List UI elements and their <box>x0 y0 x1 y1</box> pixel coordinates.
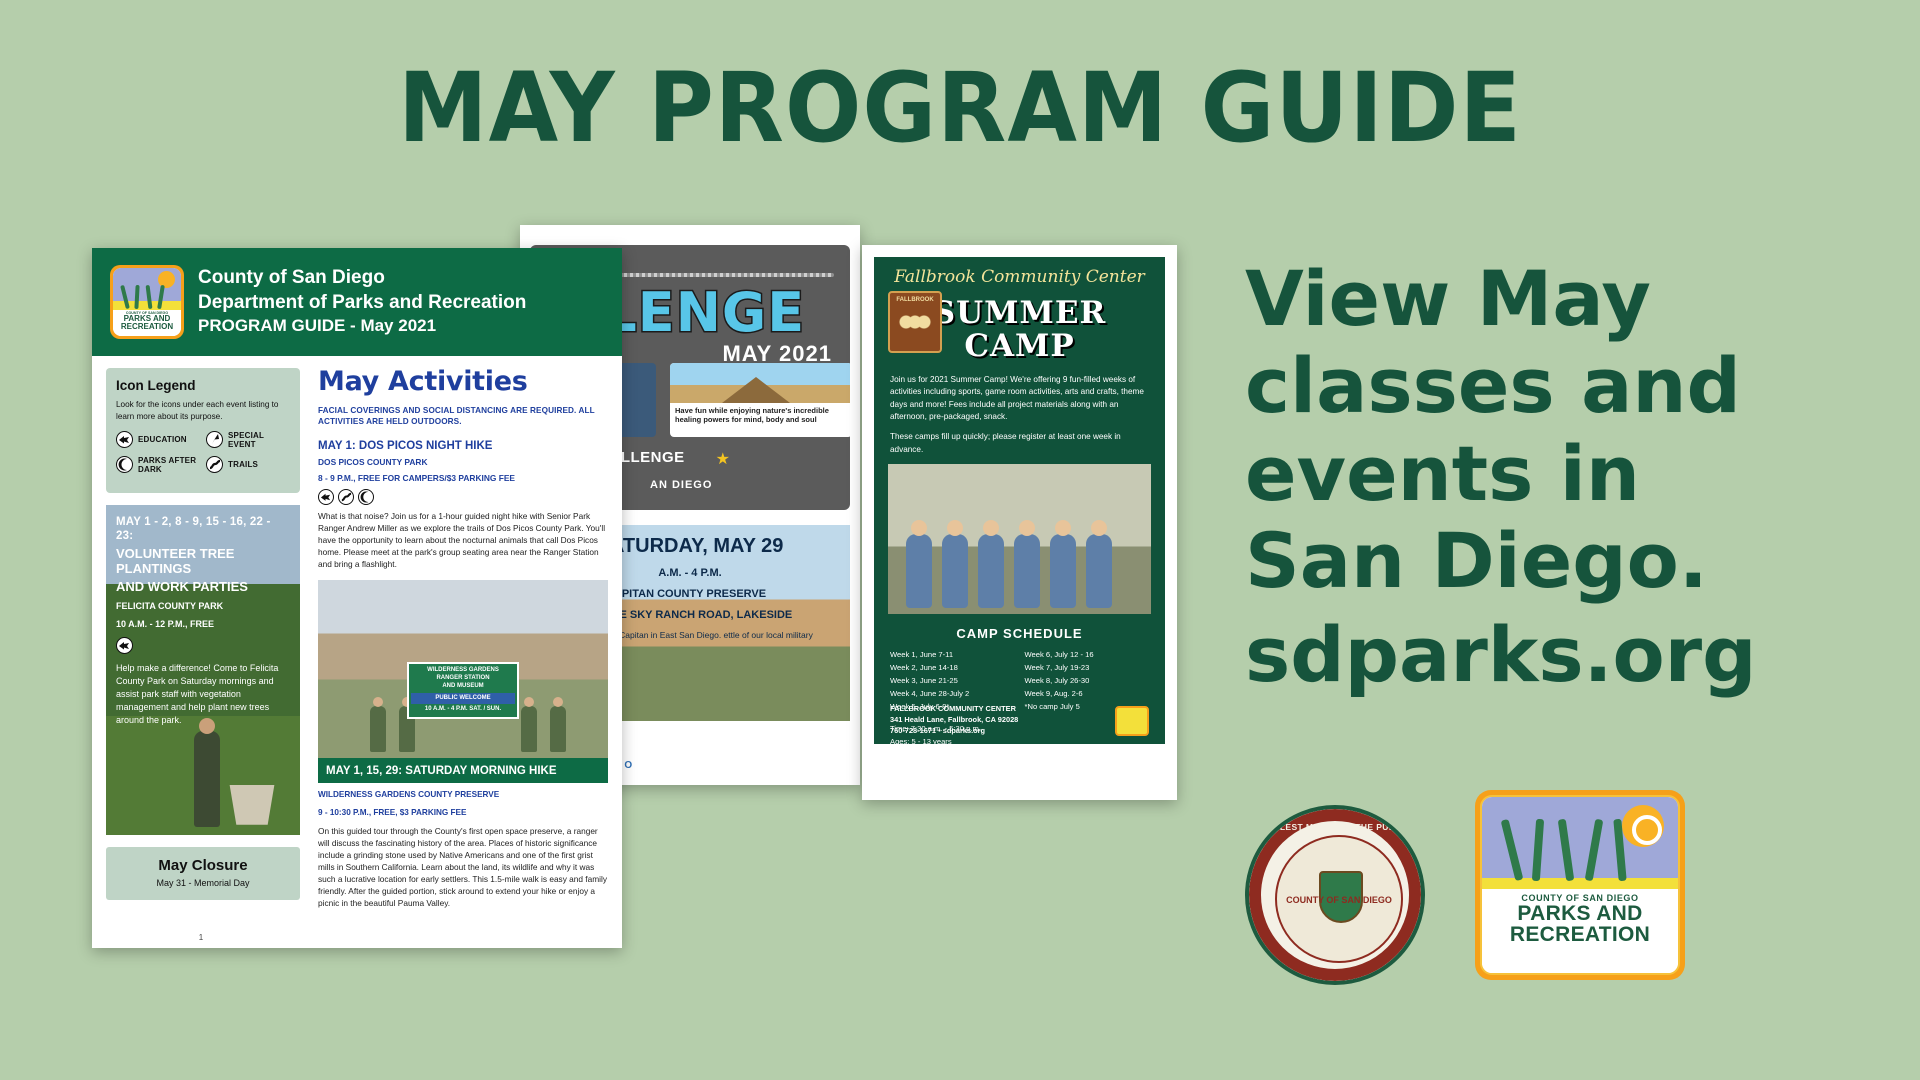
fallbrook-footer-address: 341 Heald Lane, Fallbrook, CA 92028 <box>890 714 1149 725</box>
legend-item-education: EDUCATION <box>116 431 200 449</box>
event-time: 9 - 10:30 P.M., FREE, $3 PARKING FEE <box>318 807 608 819</box>
event-time: 8 - 9 P.M., FREE FOR CAMPERS/$3 PARKING … <box>318 472 608 484</box>
list-item: Week 4, June 28-July 2 <box>890 688 1015 701</box>
event-body: On this guided tour through the County's… <box>318 825 608 909</box>
guide-header: COUNTY OF SAN DIEGO PARKS AND RECREATION… <box>92 248 622 356</box>
camp-detail-ages: Ages: 5 - 13 years <box>890 736 1149 744</box>
fallbrook-footer-name: FALLBROOK COMMUNITY CENTER <box>890 703 1149 714</box>
legend-item-parks-after-dark: PARKS AFTER DARK <box>116 456 200 474</box>
guide-left-column: Icon Legend Look for the icons under eac… <box>92 356 310 948</box>
ranger-figure <box>194 731 220 827</box>
feature-title-line1: VOLUNTEER TREE PLANTINGS <box>116 546 290 577</box>
fallbrook-intro-p1: Join us for 2021 Summer Camp! We're offe… <box>890 374 1149 423</box>
event-body: What is that noise? Join us for a 1-hour… <box>318 510 608 570</box>
feature-dates: MAY 1 - 2, 8 - 9, 15 - 16, 22 - 23: <box>116 515 290 544</box>
education-icon <box>116 431 133 448</box>
poster-canvas: MAY PROGRAM GUIDE HALLENGE MAY 2021 Have… <box>0 0 1920 1080</box>
camp-schedule-heading: CAMP SCHEDULE <box>874 626 1165 641</box>
guide-title-line1: County of San Diego <box>198 266 526 291</box>
legend-label: TRAILS <box>228 460 258 469</box>
document-page-fallbrook-summer-camp[interactable]: Fallbrook Community Center FALLBROOK SUM… <box>862 245 1177 800</box>
document-page-program-guide[interactable]: COUNTY OF SAN DIEGO PARKS AND RECREATION… <box>92 248 622 948</box>
sign-line4: PUBLIC WELCOME <box>411 693 515 705</box>
education-icon <box>116 637 133 654</box>
sign-line1: WILDERNESS GARDENS <box>411 667 515 675</box>
icon-legend-title: Icon Legend <box>116 378 290 393</box>
guide-title-line2: Department of Parks and Recreation <box>198 291 526 316</box>
guide-right-column: May Activities FACIAL COVERINGS AND SOCI… <box>310 356 622 948</box>
county-seal-icon: NOBLEST MOTIVE IS THE PUBLIC GOOD MDCCCL… <box>1245 805 1425 985</box>
sign-line3: AND MUSEUM <box>411 683 515 691</box>
parks-recreation-logo-icon: COUNTY OF SAN DIEGO PARKS AND RECREATION <box>110 265 184 339</box>
activities-notice: FACIAL COVERINGS AND SOCIAL DISTANCING A… <box>318 405 608 428</box>
legend-label: SPECIAL EVENT <box>228 431 290 449</box>
mountain-illustration <box>670 363 850 403</box>
trails-icon <box>338 489 354 505</box>
feature-description: Help make a difference! Come to Felicita… <box>116 662 290 727</box>
list-item: Week 3, June 21-25 <box>890 675 1015 688</box>
special-event-icon <box>206 431 223 448</box>
arches-icon <box>898 308 932 338</box>
guide-header-titles: County of San Diego Department of Parks … <box>198 266 526 338</box>
fallbrook-crest-label: FALLBROOK <box>896 297 933 303</box>
feature-location: FELICITA COUNTY PARK <box>116 600 290 612</box>
challenge-photo-heading-1: SATURDAY, MAY 29 <box>597 535 784 557</box>
logo-big-line2: RECREATION <box>1482 924 1678 945</box>
star-icon: ★ <box>716 449 730 469</box>
list-item: Week 6, July 12 - 16 <box>1025 649 1150 662</box>
ranger-station-sign: WILDERNESS GARDENS RANGER STATION AND MU… <box>407 662 519 719</box>
list-item: Week 2, June 14-18 <box>890 662 1015 675</box>
legend-label: EDUCATION <box>138 435 187 444</box>
trails-icon <box>206 456 223 473</box>
page-title: MAY PROGRAM GUIDE <box>0 52 1920 164</box>
list-item: Week 8, July 26-30 <box>1025 675 1150 688</box>
event-dos-picos-night-hike: MAY 1: DOS PICOS NIGHT HIKE DOS PICOS CO… <box>318 440 608 570</box>
feature-volunteer-tree-plantings: MAY 1 - 2, 8 - 9, 15 - 16, 22 - 23: VOLU… <box>106 505 300 835</box>
feature-title-line2: AND WORK PARTIES <box>116 579 290 595</box>
fallbrook-panel: Fallbrook Community Center FALLBROOK SUM… <box>874 257 1165 744</box>
challenge-card-caption: Have fun while enjoying nature's incredi… <box>670 403 850 428</box>
fallbrook-footer-phone: 760-728-1671 • sdparks.org <box>890 725 1149 736</box>
promo-line-1: View May <box>1245 255 1885 342</box>
promo-line-4: San Diego. <box>1245 517 1885 604</box>
icon-legend-row: PARKS AFTER DARK TRAILS <box>116 456 290 474</box>
activities-title: May Activities <box>318 366 608 397</box>
icon-legend-description: Look for the icons under each event list… <box>116 399 290 423</box>
parks-recreation-logo-large: COUNTY OF SAN DIEGO PARKS AND RECREATION <box>1475 790 1685 980</box>
sign-line2: RANGER STATION <box>411 675 515 683</box>
may-closure-box: May Closure May 31 - Memorial Day <box>106 847 300 900</box>
event-icons <box>318 489 608 505</box>
icon-legend-row: EDUCATION SPECIAL EVENT <box>116 431 290 449</box>
fallbrook-camp-photo <box>888 464 1151 614</box>
wilderness-gardens-photo: WILDERNESS GARDENS RANGER STATION AND MU… <box>318 580 608 758</box>
promo-line-3: events in <box>1245 430 1885 517</box>
parks-after-dark-icon <box>116 456 133 473</box>
legend-label: PARKS AFTER DARK <box>138 456 200 474</box>
closure-title: May Closure <box>112 857 294 874</box>
seal-center-label: COUNTY OF SAN DIEGO <box>1277 895 1401 905</box>
sign-line5: 10 A.M. - 4 P.M. SAT. / SUN. <box>411 706 515 714</box>
event-location: DOS PICOS COUNTY PARK <box>318 456 608 468</box>
logo-big-line2: RECREATION <box>113 323 181 331</box>
feature-icons <box>116 637 290 654</box>
event-saturday-morning-hike: MAY 1, 15, 29: SATURDAY MORNING HIKE WIL… <box>318 758 608 909</box>
legend-item-trails: TRAILS <box>206 456 290 474</box>
list-item: Week 7, July 19-23 <box>1025 662 1150 675</box>
legend-item-special-event: SPECIAL EVENT <box>206 431 290 449</box>
fallbrook-intro: Join us for 2021 Summer Camp! We're offe… <box>874 362 1165 456</box>
fallbrook-footer: FALLBROOK COMMUNITY CENTER 341 Heald Lan… <box>890 703 1149 736</box>
guide-body: Icon Legend Look for the icons under eac… <box>92 356 622 948</box>
challenge-card-right: Have fun while enjoying nature's incredi… <box>670 363 850 437</box>
guide-title-line3: PROGRAM GUIDE - May 2021 <box>198 315 526 338</box>
list-item: Week 1, June 7-11 <box>890 649 1015 662</box>
event-heading: MAY 1: DOS PICOS NIGHT HIKE <box>318 440 608 452</box>
promo-url[interactable]: sdparks.org <box>1245 611 1885 698</box>
closure-subtitle: May 31 - Memorial Day <box>112 878 294 888</box>
fallbrook-intro-p2: These camps fill up quickly; please regi… <box>890 431 1149 456</box>
page-number: 1 <box>199 933 203 942</box>
fallbrook-script-title: Fallbrook Community Center <box>874 267 1165 287</box>
parks-after-dark-icon <box>358 489 374 505</box>
icon-legend: Icon Legend Look for the icons under eac… <box>106 368 300 493</box>
event-heading: MAY 1, 15, 29: SATURDAY MORNING HIKE <box>318 758 608 783</box>
promo-line-2: classes and <box>1245 342 1885 429</box>
list-item: Week 9, Aug. 2-6 <box>1025 688 1150 701</box>
fallbrook-crest-icon: FALLBROOK <box>888 291 942 353</box>
challenge-sd-label: AN DIEGO <box>650 479 712 491</box>
event-location: WILDERNESS GARDENS COUNTY PRESERVE <box>318 789 608 801</box>
sun-icon <box>1622 805 1664 847</box>
logo-big-line1: PARKS AND <box>1482 903 1678 924</box>
parks-logo-small-icon <box>1115 706 1149 736</box>
education-icon <box>318 489 334 505</box>
feature-time: 10 A.M. - 12 P.M., FREE <box>116 618 290 630</box>
promo-text: View May classes and events in San Diego… <box>1245 255 1885 698</box>
